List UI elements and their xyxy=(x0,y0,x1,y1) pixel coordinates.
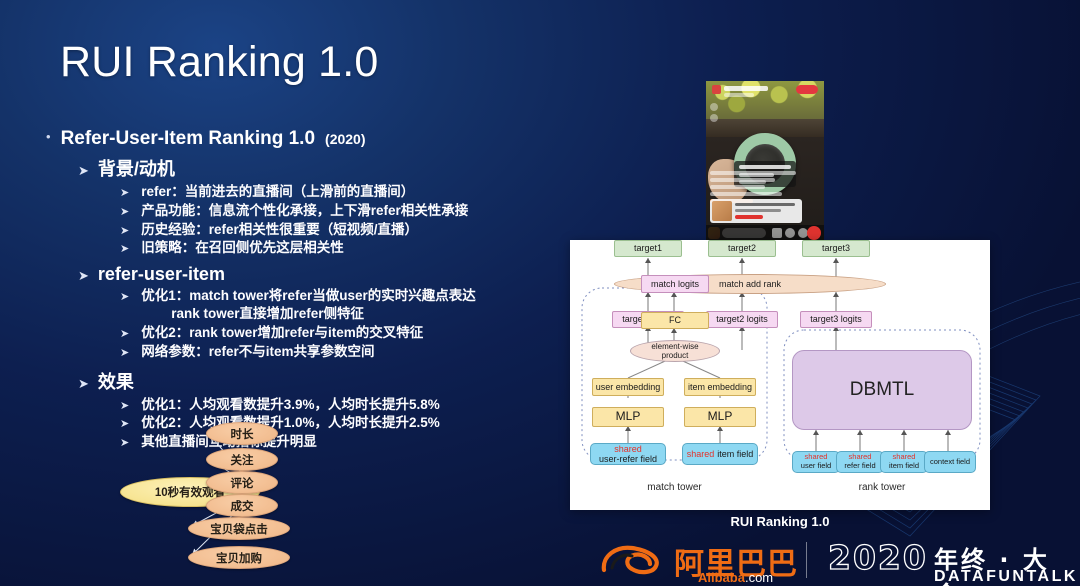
outline-item: ➤ 网络参数：refer不与item共享参数空间 xyxy=(120,343,576,361)
outline-item-label: 优化1：人均观看数提升3.9%，人均时长提升5.8% xyxy=(141,396,440,414)
arrow-right-icon: ➤ xyxy=(120,224,129,237)
match-field-node: shared item field xyxy=(682,443,758,465)
target-node: target1 xyxy=(614,240,682,257)
outline-section-label: 背景/动机 xyxy=(98,155,175,181)
match-logits-node: match logits xyxy=(641,275,709,293)
chat-messages xyxy=(710,171,796,197)
match-field-node: shared user-refer field xyxy=(590,443,666,465)
bullet-dot-icon: • xyxy=(46,130,51,143)
outline-content: • Refer-User-Item Ranking 1.0 (2020) ➤ 背… xyxy=(46,128,576,452)
architecture-diagram: target1 target2 target3 match add rank m… xyxy=(570,240,990,510)
target-label: target2 xyxy=(728,243,756,253)
arrow-right-icon: ➤ xyxy=(78,268,89,284)
element-wise-product-node: element-wise product xyxy=(630,340,720,362)
branding-footer: 阿里巴巴 Alibaba.com 2020 年终 · 大会 DATAFUNTAL… xyxy=(598,538,1068,584)
outline-item: ➤ 优化1：人均观看数提升3.9%，人均时长提升5.8% xyxy=(120,396,576,414)
conference-name-en: DATAFUNTALK xyxy=(934,568,1078,586)
rank-field-label: item field xyxy=(889,462,919,471)
cart-icon[interactable] xyxy=(807,226,821,240)
brand-divider xyxy=(806,542,807,578)
arrow-right-icon: ➤ xyxy=(120,205,129,218)
outline-section-heading: ➤ refer-user-item xyxy=(78,264,576,285)
alibaba-domain: Alibaba.com xyxy=(698,570,773,585)
mlp-label: MLP xyxy=(616,410,641,424)
match-logits-label: match logits xyxy=(651,279,699,289)
funnel-target-label: 评论 xyxy=(231,475,254,491)
outline-item-label: 旧策略：在召回侧优先这层相关性 xyxy=(141,239,344,257)
user-embedding-node: user embedding xyxy=(592,378,664,396)
outline-item: ➤ 产品功能：信息流个性化承接，上下滑refer相关性承接 xyxy=(120,202,576,220)
user-embedding-label: user embedding xyxy=(596,382,661,392)
outline-level1-year: (2020) xyxy=(325,131,365,147)
livestream-screenshot xyxy=(706,81,824,241)
outline-item: ➤ refer：当前进去的直播间（上滑前的直播间） xyxy=(120,183,576,201)
funnel-target-node: 时长 xyxy=(206,422,278,445)
rank-field-node: context field xyxy=(924,451,976,473)
funnel-target-label: 成交 xyxy=(231,498,254,514)
share-icon[interactable] xyxy=(785,228,795,238)
product-subtitle xyxy=(735,209,781,212)
outline-item-label: 历史经验：refer相关性很重要（短视频/直播） xyxy=(141,221,418,239)
outline-item-line1: 优化1：match tower将refer当做user的实时兴趣点表达 xyxy=(141,288,476,303)
funnel-target-label: 宝贝加购 xyxy=(216,550,262,566)
bottom-action-bar xyxy=(706,225,824,241)
shared-tag: shared xyxy=(614,444,642,454)
conversion-funnel-diagram: 10秒有效观看 时长 关注 评论 成交 宝贝袋点击 宝贝加购 xyxy=(120,418,420,578)
slide-canvas: RUI Ranking 1.0 • Refer-User-Item Rankin… xyxy=(0,0,1080,586)
page-title: RUI Ranking 1.0 xyxy=(60,38,379,87)
product-title xyxy=(735,203,795,206)
rank-field-node: shared refer field xyxy=(836,451,884,473)
target-logits-label: target2 logits xyxy=(716,314,768,324)
match-add-rank-label: match add rank xyxy=(719,279,781,289)
outline-level1: • Refer-User-Item Ranking 1.0 (2020) xyxy=(46,128,576,150)
funnel-target-label: 时长 xyxy=(231,426,254,442)
match-field-label: item field xyxy=(717,449,753,459)
side-icon[interactable] xyxy=(710,114,718,122)
target-label: target1 xyxy=(634,243,662,253)
list-icon[interactable] xyxy=(772,228,782,238)
target-node: target3 xyxy=(802,240,870,257)
streamer-name xyxy=(724,86,768,91)
item-embedding-label: item embedding xyxy=(688,382,752,392)
outline-section-heading: ➤ 背景/动机 xyxy=(78,155,576,181)
fc-node: FC xyxy=(641,312,709,329)
element-wise-product-label: element-wise product xyxy=(651,342,698,360)
alibaba-logo-icon xyxy=(598,540,670,580)
product-card[interactable] xyxy=(710,199,802,223)
funnel-target-label: 宝贝袋点击 xyxy=(210,521,268,537)
outline-section-label: refer-user-item xyxy=(98,264,225,285)
streamer-subtitle xyxy=(724,93,754,97)
outline-level1-label: Refer-User-Item Ranking 1.0 xyxy=(61,128,315,150)
match-field-label: user-refer field xyxy=(599,454,657,464)
rank-field-node: shared user field xyxy=(792,451,840,473)
dbmtl-node: DBMTL xyxy=(792,350,972,430)
outline-item-label: refer：当前进去的直播间（上滑前的直播间） xyxy=(141,183,414,201)
outline-item: ➤ 旧策略：在召回侧优先这层相关性 xyxy=(120,239,576,257)
item-embedding-node: item embedding xyxy=(684,378,756,396)
outline-item: ➤ 历史经验：refer相关性很重要（短视频/直播） xyxy=(120,221,576,239)
streamer-avatar xyxy=(712,85,721,94)
target-label: target3 xyxy=(822,243,850,253)
rank-field-label: context field xyxy=(930,458,970,467)
mlp-node: MLP xyxy=(684,407,756,427)
outline-item-label: 优化1：match tower将refer当做user的实时兴趣点表达 rank… xyxy=(141,287,476,323)
outline-item-label: 产品功能：信息流个性化承接，上下滑refer相关性承接 xyxy=(141,202,468,220)
mlp-label: MLP xyxy=(708,410,733,424)
arrow-right-icon: ➤ xyxy=(120,290,129,303)
rank-field-label: refer field xyxy=(844,462,875,471)
architecture-caption: RUI Ranking 1.0 xyxy=(570,514,990,529)
outline-section-heading: ➤ 效果 xyxy=(78,368,576,394)
target-logits-node: target2 logits xyxy=(706,311,778,328)
shared-tag: shared xyxy=(687,449,715,459)
outline-item-label: 优化2：rank tower增加refer与item的交叉特征 xyxy=(141,324,423,342)
arrow-right-icon: ➤ xyxy=(78,376,89,392)
outline-item-line2: rank tower直接增加refer侧特征 xyxy=(141,305,476,323)
funnel-target-node: 宝贝加购 xyxy=(188,546,290,569)
dbmtl-label: DBMTL xyxy=(850,379,914,401)
match-tower-label: match tower xyxy=(582,482,767,493)
follow-button[interactable] xyxy=(796,85,818,94)
fc-label: FC xyxy=(669,315,681,325)
outline-item: ➤ 优化2：rank tower增加refer与item的交叉特征 xyxy=(120,324,576,342)
arrow-right-icon: ➤ xyxy=(120,399,129,412)
alibaba-dotcom: .com xyxy=(745,570,773,585)
arrow-right-icon: ➤ xyxy=(120,186,129,199)
alibaba-english-name: Alibaba xyxy=(698,570,745,585)
funnel-target-label: 关注 xyxy=(231,452,254,468)
funnel-target-node: 宝贝袋点击 xyxy=(188,517,290,540)
comment-input[interactable] xyxy=(722,228,766,238)
conference-year: 2020 xyxy=(828,538,928,577)
product-price xyxy=(735,215,763,219)
outline-item: ➤ 优化1：match tower将refer当做user的实时兴趣点表达 ra… xyxy=(120,287,576,323)
rank-field-node: shared item field xyxy=(880,451,928,473)
mlp-node: MLP xyxy=(592,407,664,427)
target-logits-node: target3 logits xyxy=(800,311,872,328)
funnel-target-node: 关注 xyxy=(206,448,278,471)
outline-section-label: 效果 xyxy=(98,368,134,394)
funnel-target-node: 评论 xyxy=(206,471,278,494)
arrow-right-icon: ➤ xyxy=(120,346,129,359)
arrow-right-icon: ➤ xyxy=(78,163,89,179)
funnel-target-node: 成交 xyxy=(206,494,278,517)
rank-tower-label: rank tower xyxy=(784,482,980,493)
arrow-right-icon: ➤ xyxy=(120,327,129,340)
target-node: target2 xyxy=(708,240,776,257)
arrow-right-icon: ➤ xyxy=(120,242,129,255)
product-thumbnail xyxy=(712,201,732,221)
side-icon[interactable] xyxy=(710,103,718,111)
target-logits-label: target3 logits xyxy=(810,314,862,324)
outline-item-label: 网络参数：refer不与item共享参数空间 xyxy=(141,343,374,361)
rank-field-label: user field xyxy=(801,462,831,471)
